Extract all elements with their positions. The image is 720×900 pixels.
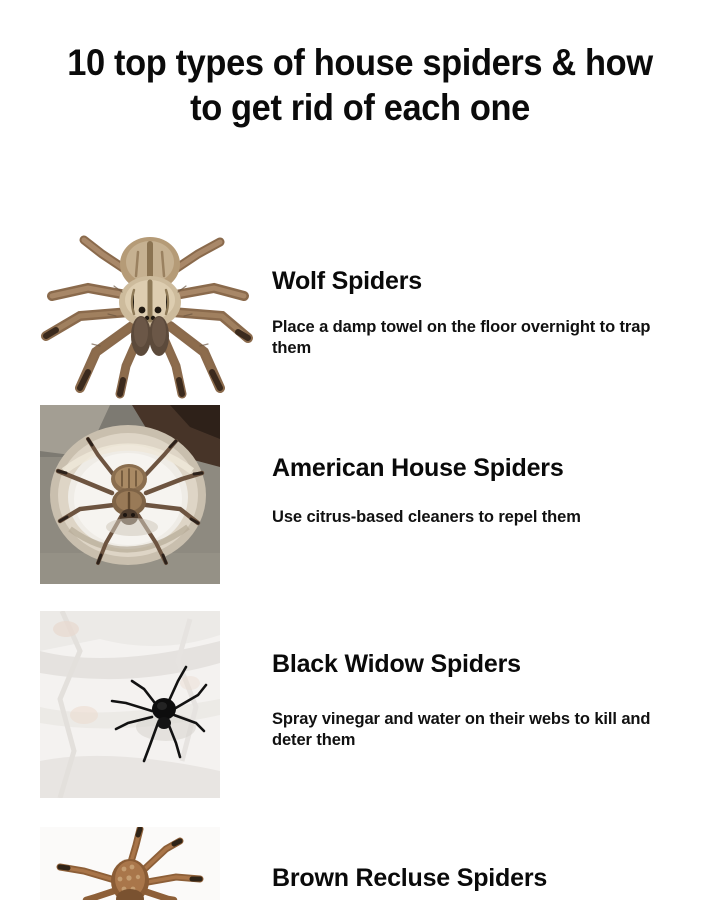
spider-name: Wolf Spiders <box>272 268 654 296</box>
spider-name: Brown Recluse Spiders <box>272 865 547 893</box>
list-item: Wolf Spiders Place a damp towel on the f… <box>0 196 720 401</box>
spider-tip: Place a damp towel on the floor overnigh… <box>272 317 654 360</box>
black-widow-spider-on-white-fabric-photo <box>40 611 220 798</box>
spider-tip: Spray vinegar and water on their webs to… <box>272 709 654 752</box>
entry-copy: American House Spiders Use citrus-based … <box>272 455 581 528</box>
wolf-spider-photo <box>30 196 260 401</box>
list-item: American House Spiders Use citrus-based … <box>0 405 720 584</box>
spider-name: Black Widow Spiders <box>272 651 654 679</box>
entry-copy: Wolf Spiders Place a damp towel on the f… <box>272 268 654 359</box>
entry-copy: Brown Recluse Spiders <box>272 865 547 893</box>
spider-name: American House Spiders <box>272 455 581 483</box>
american-house-spider-in-bowl-photo <box>40 405 220 584</box>
list-item: Black Widow Spiders Spray vinegar and wa… <box>0 611 720 798</box>
entry-copy: Black Widow Spiders Spray vinegar and wa… <box>272 651 654 751</box>
infographic-page: 10 top types of house spiders & how to g… <box>0 0 720 900</box>
spider-tip: Use citrus-based cleaners to repel them <box>272 507 581 528</box>
brown-recluse-spider-photo <box>40 827 220 900</box>
page-title: 10 top types of house spiders & how to g… <box>62 40 657 130</box>
list-item: Brown Recluse Spiders <box>0 827 720 900</box>
